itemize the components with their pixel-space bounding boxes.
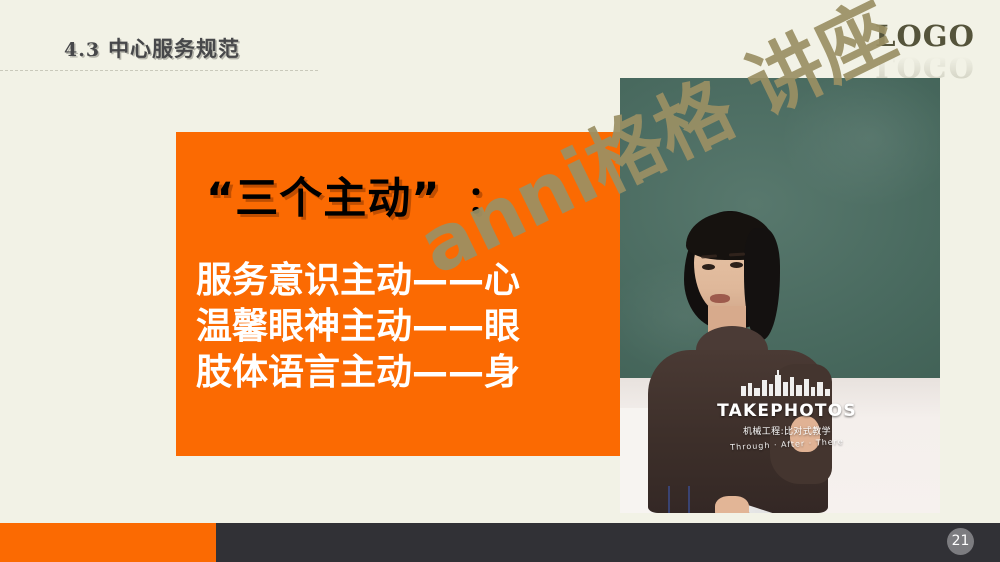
footer-accent-block xyxy=(0,523,216,562)
list-item: 温馨眼神主动——眼 xyxy=(196,304,520,350)
lecture-photo: TAKEPHOTOS 机械工程:比对式教学 Through · After · … xyxy=(620,78,940,513)
list-item: 服务意识主动——心 xyxy=(196,258,520,304)
photo-watermark-title: TAKEPHOTOS xyxy=(712,402,862,421)
teacher-eye-left xyxy=(702,264,715,270)
slide: 4.3中心服务规范 LOGO LOGO “三个主动”： 服务意识主动——心 温馨… xyxy=(0,0,1000,562)
content-headline: “三个主动”： xyxy=(206,164,506,226)
teacher-eye-right xyxy=(730,262,743,268)
page-number-badge: 21 xyxy=(947,528,974,555)
teacher-mouth xyxy=(710,294,730,303)
logo-reflection: LOGO xyxy=(870,52,980,81)
page-title: 4.3中心服务规范 xyxy=(64,33,240,63)
content-list: 服务意识主动——心 温馨眼神主动——眼 肢体语言主动——身 xyxy=(196,258,520,396)
content-panel: “三个主动”： 服务意识主动——心 温馨眼神主动——眼 肢体语言主动——身 xyxy=(176,132,621,456)
skyline-icon xyxy=(712,370,862,400)
footer-bar: 21 xyxy=(0,523,1000,562)
headline-colon: ： xyxy=(467,178,506,222)
logo: LOGO LOGO xyxy=(870,22,980,78)
header-divider xyxy=(0,70,318,71)
teacher-hand-holding xyxy=(715,496,749,513)
list-item: 肢体语言主动——身 xyxy=(196,350,520,396)
section-title: 中心服务规范 xyxy=(108,37,240,61)
section-number: 4.3 xyxy=(64,39,100,61)
photo-watermark-subtitle: 机械工程:比对式教学 xyxy=(712,424,862,437)
lanyard xyxy=(668,486,690,513)
logo-text: LOGO xyxy=(870,22,980,51)
photo-watermark: TAKEPHOTOS 机械工程:比对式教学 Through · After · … xyxy=(712,370,862,449)
headline-text: “三个主动” xyxy=(206,174,441,224)
